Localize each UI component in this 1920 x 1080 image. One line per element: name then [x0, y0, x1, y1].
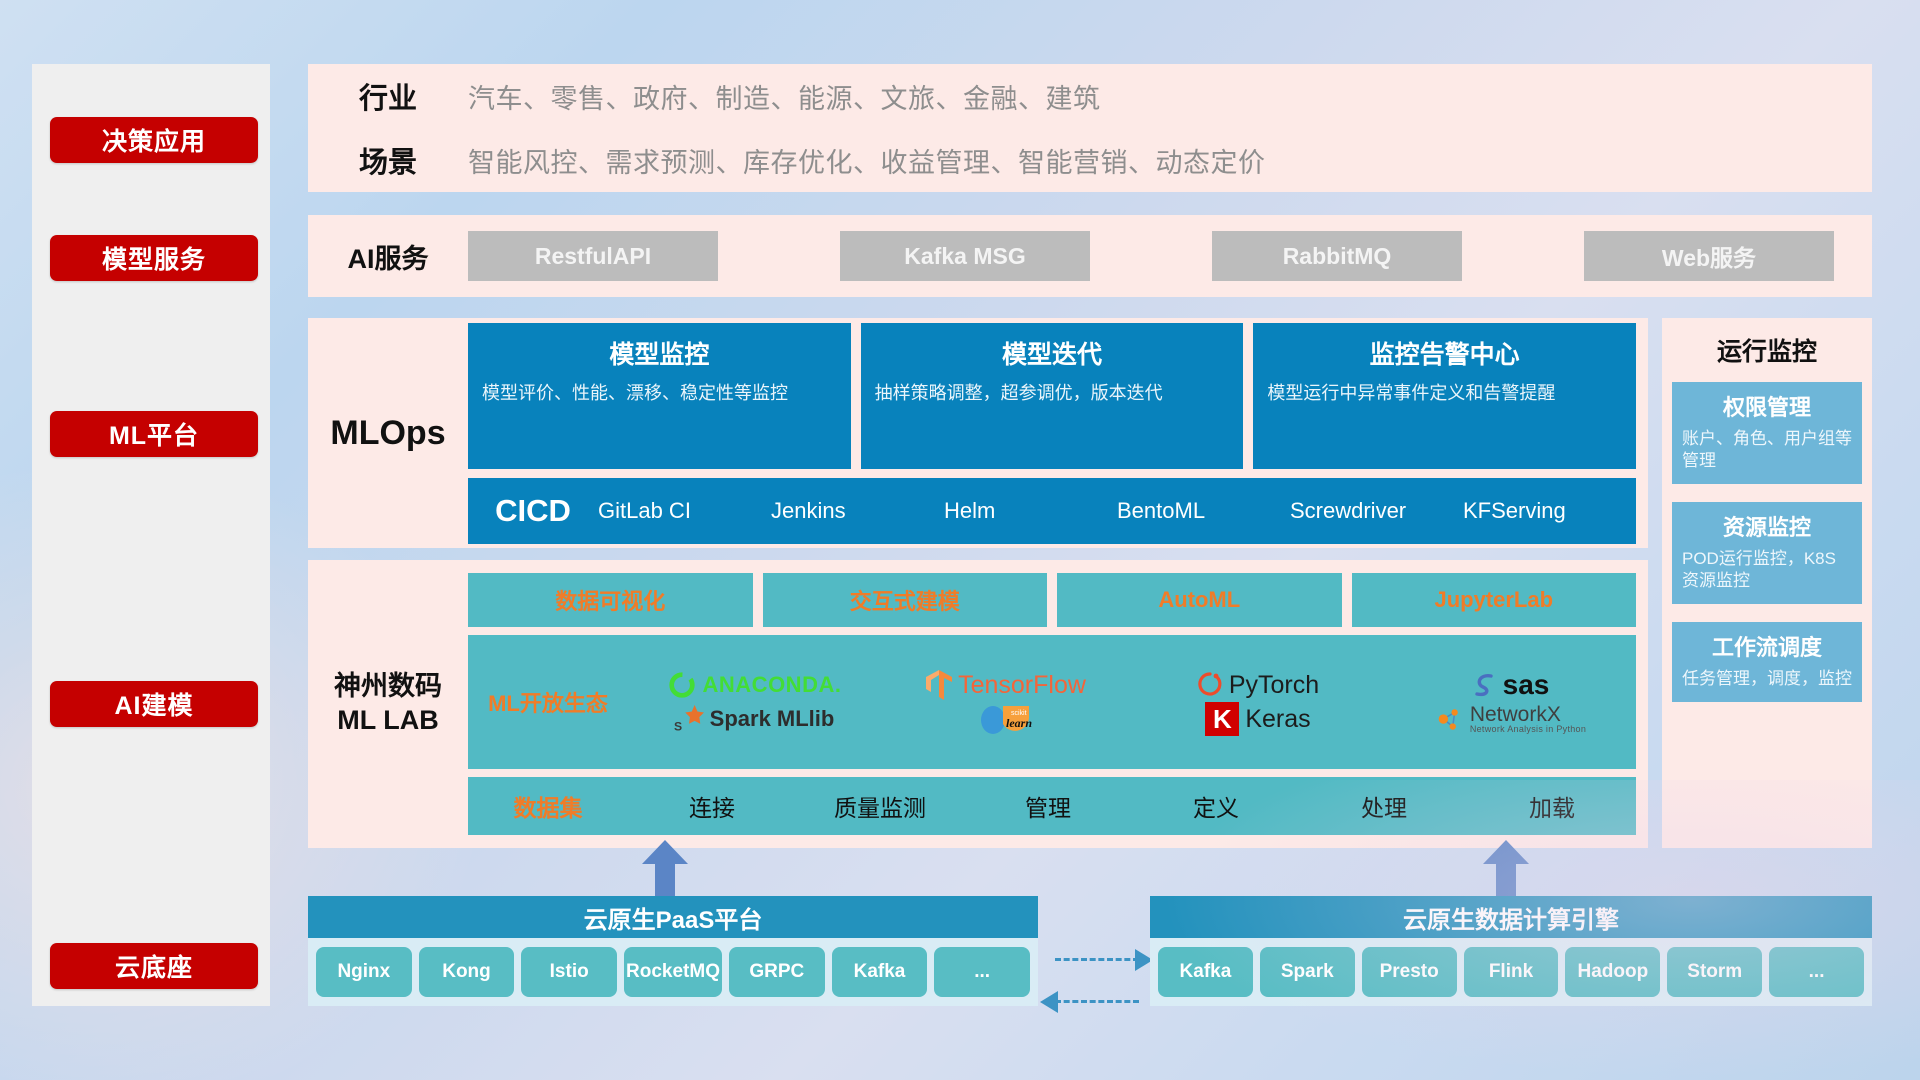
- spark-mllib-label: Spark MLlib: [710, 706, 835, 732]
- monitor-card-resource[interactable]: 资源监控 POD运行监控，K8S资源监控: [1672, 502, 1862, 604]
- ai-service-items: RestfulAPI Kafka MSG RabbitMQ Web服务: [468, 231, 1872, 281]
- keras-label: Keras: [1245, 705, 1310, 734]
- paas-up-arrow-icon: [642, 840, 688, 896]
- scikit-learn-logo: scikit learn scikit-learn: [979, 702, 1033, 736]
- dataset-bar: 数据集 连接 质量监测 管理 定义 处理 加载: [468, 777, 1636, 835]
- runtime-monitor-band: 运行监控 权限管理 账户、角色、用户组等管理 资源监控 POD运行监控，K8S资…: [1662, 318, 1872, 848]
- card-title: 权限管理: [1682, 390, 1852, 422]
- sidebar-item-label: 决策应用: [102, 122, 206, 158]
- anaconda-logo: ANACONDA.: [667, 670, 842, 700]
- card-desc: 任务管理，调度，监控: [1682, 668, 1852, 690]
- sidebar-item-label: AI建模: [114, 686, 193, 722]
- paas-tile-kafka[interactable]: Kafka: [832, 947, 928, 997]
- ai-service-chip-kafka-msg[interactable]: Kafka MSG: [840, 231, 1090, 281]
- ml-open-ecosystem-title: ML开放生态: [468, 686, 628, 718]
- cicd-item-jenkins[interactable]: Jenkins: [771, 499, 944, 522]
- card-desc: POD运行监控，K8S资源监控: [1682, 548, 1852, 592]
- card-title: 监控告警中心: [1267, 335, 1622, 371]
- cicd-item-gitlab-ci[interactable]: GitLab CI: [598, 499, 771, 522]
- card-desc: 抽样策略调整，超参调优，版本迭代: [875, 381, 1230, 405]
- mlops-card-model-monitoring[interactable]: 模型监控 模型评价、性能、漂移、稳定性等监控: [468, 323, 851, 469]
- ml-lab-label-line1: 神州数码: [308, 670, 468, 704]
- engine-tile-spark[interactable]: Spark: [1260, 947, 1355, 997]
- paas-tile-istio[interactable]: Istio: [521, 947, 617, 997]
- dataset-items: 连接 质量监测 管理 定义 处理 加载: [628, 789, 1636, 823]
- dataset-item-connect[interactable]: 连接: [628, 789, 796, 823]
- engine-tile-hadoop[interactable]: Hadoop: [1565, 947, 1660, 997]
- sas-label: sas: [1503, 669, 1550, 701]
- scenario-value: 智能风控、需求预测、库存优化、收益管理、智能营销、动态定价: [468, 141, 1872, 180]
- lab-tool-interactive-modeling[interactable]: 交互式建模: [763, 573, 1048, 627]
- dataset-item-process[interactable]: 处理: [1300, 789, 1468, 823]
- paas-tile-kong[interactable]: Kong: [419, 947, 515, 997]
- tensorflow-icon: [926, 670, 952, 700]
- industry-label: 行业: [308, 75, 468, 117]
- anaconda-icon: [667, 670, 697, 700]
- cicd-item-kfserving[interactable]: KFServing: [1463, 499, 1636, 522]
- card-desc: 账户、角色、用户组等管理: [1682, 428, 1852, 472]
- anaconda-label: ANACONDA.: [703, 672, 842, 698]
- paas-to-engine-dashed-line: [1055, 958, 1139, 961]
- networkx-tagline: Network Analysis in Python: [1470, 725, 1586, 734]
- layer-rail: 决策应用 模型服务 ML平台 AI建模 云底座: [32, 64, 270, 1006]
- architecture-diagram: 决策应用 模型服务 ML平台 AI建模 云底座 行业 汽车、零售、政府、制造、能…: [0, 0, 1920, 1080]
- card-title: 模型监控: [482, 335, 837, 371]
- paas-tile-grpc[interactable]: GRPC: [729, 947, 825, 997]
- scenario-row: 场景 智能风控、需求预测、库存优化、收益管理、智能营销、动态定价: [308, 128, 1872, 192]
- cloud-native-paas-box: 云原生PaaS平台 Nginx Kong Istio RocketMQ GRPC…: [308, 896, 1038, 1006]
- tensorflow-logo: TensorFlow: [926, 670, 1086, 700]
- engine-tile-flink[interactable]: Flink: [1464, 947, 1559, 997]
- paas-tiles: Nginx Kong Istio RocketMQ GRPC Kafka ...: [308, 938, 1038, 1006]
- ml-open-ecosystem: ML开放生态 ANACONDA. Ten: [468, 635, 1636, 769]
- industry-row: 行业 汽车、零售、政府、制造、能源、文旅、金融、建筑: [308, 64, 1872, 128]
- scikit-learn-icon: scikit learn: [979, 702, 1033, 736]
- engine-title: 云原生数据计算引擎: [1150, 896, 1872, 938]
- ml-lab-band: 神州数码 ML LAB 数据可视化 交互式建模 AutoML JupyterLa…: [308, 560, 1648, 848]
- engine-tile-kafka[interactable]: Kafka: [1158, 947, 1253, 997]
- ml-lab-body: 数据可视化 交互式建模 AutoML JupyterLab ML开放生态 ANA…: [468, 573, 1648, 835]
- ecosystem-logos: ANACONDA. TensorFlow: [628, 668, 1636, 736]
- networkx-label: NetworkX: [1470, 704, 1586, 725]
- dataset-item-manage[interactable]: 管理: [964, 789, 1132, 823]
- mlops-card-alert-center[interactable]: 监控告警中心 模型运行中异常事件定义和告警提醒: [1253, 323, 1636, 469]
- mlops-body: 模型监控 模型评价、性能、漂移、稳定性等监控 模型迭代 抽样策略调整，超参调优，…: [468, 323, 1648, 544]
- tensorflow-label: TensorFlow: [958, 671, 1086, 700]
- card-title: 资源监控: [1682, 510, 1852, 542]
- cloud-native-data-engine-box: 云原生数据计算引擎 Kafka Spark Presto Flink Hadoo…: [1150, 896, 1872, 1006]
- ai-service-chip-web-service[interactable]: Web服务: [1584, 231, 1834, 281]
- card-title: 模型迭代: [875, 335, 1230, 371]
- engine-up-arrow-icon: [1483, 840, 1529, 896]
- cicd-item-screwdriver[interactable]: Screwdriver: [1290, 499, 1463, 522]
- spark-mllib-logo: S Spark MLlib: [674, 704, 835, 734]
- engine-to-paas-dashed-line: [1055, 1000, 1139, 1003]
- industry-value: 汽车、零售、政府、制造、能源、文旅、金融、建筑: [468, 77, 1872, 116]
- decision-apps-band: 行业 汽车、零售、政府、制造、能源、文旅、金融、建筑 场景 智能风控、需求预测、…: [308, 64, 1872, 192]
- sas-icon: [1471, 670, 1497, 700]
- keras-icon: K: [1205, 702, 1239, 736]
- sidebar-item-label: ML平台: [109, 416, 199, 452]
- monitor-card-workflow[interactable]: 工作流调度 任务管理，调度，监控: [1672, 622, 1862, 702]
- sidebar-item-cloud-base[interactable]: 云底座: [50, 943, 258, 989]
- ai-service-chip-rabbitmq[interactable]: RabbitMQ: [1212, 231, 1462, 281]
- paas-tile-rocketmq[interactable]: RocketMQ: [624, 947, 722, 997]
- engine-tile-more[interactable]: ...: [1769, 947, 1864, 997]
- mlops-card-model-iteration[interactable]: 模型迭代 抽样策略调整，超参调优，版本迭代: [861, 323, 1244, 469]
- mlops-band: MLOps 模型监控 模型评价、性能、漂移、稳定性等监控 模型迭代 抽样策略调整…: [308, 318, 1648, 548]
- pytorch-label: PyTorch: [1229, 671, 1319, 700]
- svg-text:S: S: [674, 719, 682, 733]
- paas-tile-more[interactable]: ...: [934, 947, 1030, 997]
- cicd-item-helm[interactable]: Helm: [944, 499, 1117, 522]
- ai-service-chip-restfulapi[interactable]: RestfulAPI: [468, 231, 718, 281]
- dataset-item-quality[interactable]: 质量监测: [796, 789, 964, 823]
- ai-service-label: AI服务: [308, 237, 468, 276]
- cicd-items: GitLab CI Jenkins Helm BentoML Screwdriv…: [598, 499, 1636, 522]
- dataset-item-load[interactable]: 加载: [1468, 789, 1636, 823]
- ml-lab-label-line2: ML LAB: [308, 704, 468, 738]
- dataset-item-define[interactable]: 定义: [1132, 789, 1300, 823]
- paas-title: 云原生PaaS平台: [308, 896, 1038, 938]
- sidebar-item-decision-apps[interactable]: 决策应用: [50, 117, 258, 163]
- card-desc: 模型运行中异常事件定义和告警提醒: [1267, 381, 1622, 405]
- ai-service-band: AI服务 RestfulAPI Kafka MSG RabbitMQ Web服务: [308, 215, 1872, 297]
- cicd-title: CICD: [468, 493, 598, 529]
- pytorch-logo: PyTorch: [1197, 670, 1319, 700]
- svg-text:learn: learn: [1006, 716, 1032, 730]
- sas-logo: sas: [1471, 669, 1550, 701]
- cicd-bar: CICD GitLab CI Jenkins Helm BentoML Scre…: [468, 478, 1636, 544]
- card-title: 工作流调度: [1682, 630, 1852, 662]
- mlops-cards: 模型监控 模型评价、性能、漂移、稳定性等监控 模型迭代 抽样策略调整，超参调优，…: [468, 323, 1636, 469]
- sidebar-item-model-service[interactable]: 模型服务: [50, 235, 258, 281]
- mlops-label: MLOps: [308, 414, 468, 453]
- monitor-card-permission[interactable]: 权限管理 账户、角色、用户组等管理: [1672, 382, 1862, 484]
- networkx-icon: [1434, 704, 1464, 734]
- lab-tool-jupyterlab[interactable]: JupyterLab: [1352, 573, 1637, 627]
- lab-tool-data-visualization[interactable]: 数据可视化: [468, 573, 753, 627]
- ml-lab-tools: 数据可视化 交互式建模 AutoML JupyterLab: [468, 573, 1636, 627]
- cicd-item-bentoml[interactable]: BentoML: [1117, 499, 1290, 522]
- ml-lab-label: 神州数码 ML LAB: [308, 670, 468, 738]
- lab-tool-automl[interactable]: AutoML: [1057, 573, 1342, 627]
- sidebar-item-label: 云底座: [115, 948, 193, 984]
- networkx-logo: NetworkX Network Analysis in Python: [1434, 704, 1586, 734]
- dataset-title: 数据集: [468, 789, 628, 823]
- engine-tile-presto[interactable]: Presto: [1362, 947, 1457, 997]
- engine-to-paas-arrowhead-icon: [1040, 991, 1058, 1013]
- engine-tile-storm[interactable]: Storm: [1667, 947, 1762, 997]
- spark-icon: S: [674, 704, 704, 734]
- sidebar-item-ai-modeling[interactable]: AI建模: [50, 681, 258, 727]
- runtime-monitor-title: 运行监控: [1672, 332, 1862, 368]
- keras-logo: K Keras: [1205, 702, 1310, 736]
- pytorch-icon: [1197, 670, 1223, 700]
- paas-tile-nginx[interactable]: Nginx: [316, 947, 412, 997]
- scenario-label: 场景: [308, 139, 468, 181]
- card-desc: 模型评价、性能、漂移、稳定性等监控: [482, 381, 837, 405]
- sidebar-item-ml-platform[interactable]: ML平台: [50, 411, 258, 457]
- sidebar-item-label: 模型服务: [102, 240, 206, 276]
- engine-tiles: Kafka Spark Presto Flink Hadoop Storm ..…: [1150, 938, 1872, 1006]
